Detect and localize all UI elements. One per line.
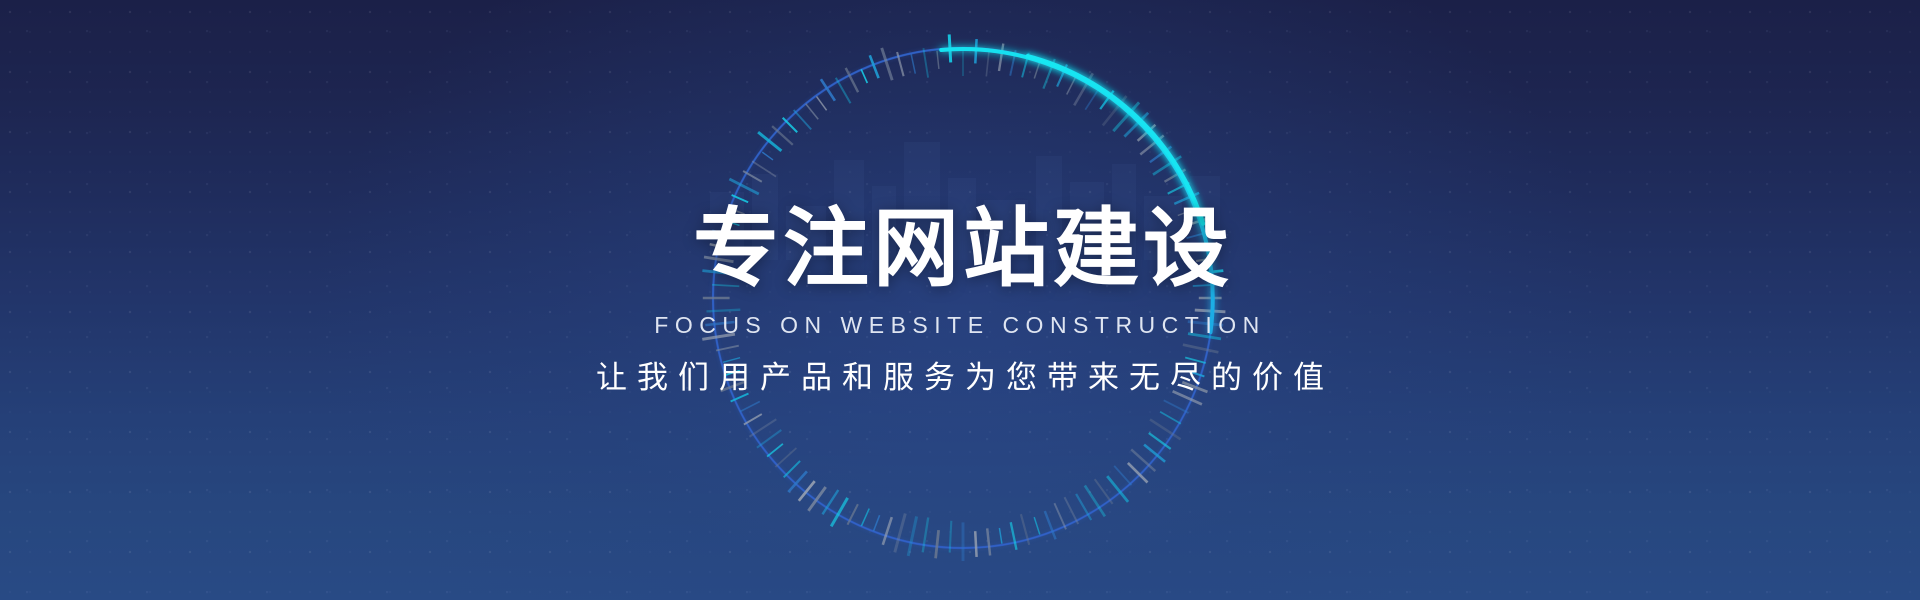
english-subtitle: FOCUS ON WEBSITE CONSTRUCTION xyxy=(654,314,1265,337)
hero-banner: 专注网站建设 FOCUS ON WEBSITE CONSTRUCTION 让我们… xyxy=(0,0,1920,600)
chinese-tagline: 让我们用产品和服务为您带来无尽的价值 xyxy=(586,363,1334,394)
page-title: 专注网站建设 xyxy=(687,206,1233,292)
banner-text-block: 专注网站建设 FOCUS ON WEBSITE CONSTRUCTION 让我们… xyxy=(0,0,1920,600)
